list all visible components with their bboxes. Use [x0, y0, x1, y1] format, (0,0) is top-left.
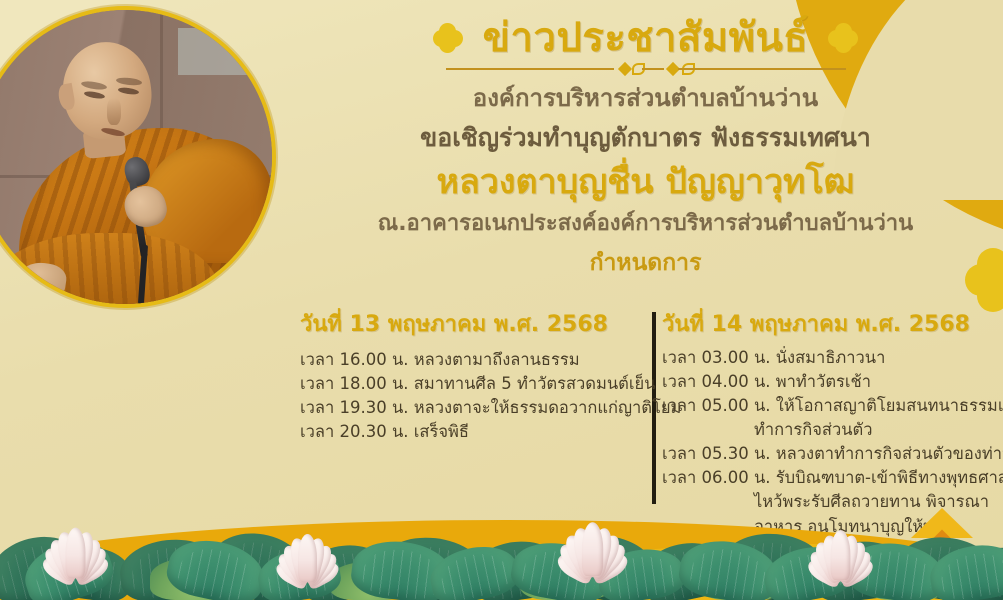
poster-header: ข่าวประชาสัมพันธ์ องค์การบริหารส่วนตำบลบ… — [288, 16, 1003, 281]
schedule-event: เวลา 19.30 น. หลวงตาจะให้ธรรมดอวากแก่ญาต… — [300, 396, 648, 420]
schedule-event: เวลา 04.00 น. พาทำวัตรเช้า — [662, 370, 1003, 394]
ornamental-divider — [446, 62, 846, 76]
wall-light-panel — [178, 28, 272, 75]
venue-text: ณ.อาคารอเนกประสงค์องค์การบริหารส่วนตำบลบ… — [288, 210, 1003, 239]
lotus-petal — [830, 530, 850, 580]
day2-heading: วันที่ 14 พฤษภาคม พ.ศ. 2568 — [662, 306, 1003, 341]
lotus-petal — [65, 528, 85, 578]
title-row: ข่าวประชาสัมพันธ์ — [288, 16, 1003, 61]
monk-name: หลวงตาบุญชื่น ปัญญาวุทโฒ — [288, 162, 1003, 203]
invitation-text: ขอเชิญร่วมทำบุญตักบาตร ฟังธรรมเทศนา — [288, 122, 1003, 155]
page-title: ข่าวประชาสัมพันธ์ — [483, 16, 809, 61]
agenda-label: กำหนดการ — [288, 245, 1003, 281]
quatrefoil-ornament-icon-right — [828, 23, 858, 53]
schedule-event: เวลา 16.00 น. หลวงตามาถึงลานธรรม — [300, 348, 648, 372]
schedule-event: เวลา 18.00 น. สมาทานศีล 5 ทำวัตรสวดมนต์เ… — [300, 372, 648, 396]
schedule-event-continuation: ทำการกิจส่วนตัว — [662, 418, 1003, 442]
poster-canvas: ข่าวประชาสัมพันธ์ องค์การบริหารส่วนตำบลบ… — [0, 0, 1003, 600]
schedule-event: เวลา 05.00 น. ให้โอกาสญาติโยมสนทนาธรรมแล… — [662, 394, 1003, 418]
monk-portrait-photo — [0, 10, 272, 304]
schedule-column-day1: วันที่ 13 พฤษภาคม พ.ศ. 2568 เวลา 16.00 น… — [300, 306, 648, 444]
organization-name: องค์การบริหารส่วนตำบลบ้านว่าน — [288, 82, 1003, 115]
quatrefoil-ornament-icon-edge — [965, 250, 1003, 310]
schedule-event: เวลา 03.00 น. นั่งสมาธิภาวนา — [662, 346, 1003, 370]
monk-photo-ring — [0, 6, 276, 308]
quatrefoil-ornament-icon-left — [433, 23, 463, 53]
lotus-petal — [298, 534, 317, 582]
schedule-event: เวลา 20.30 น. เสร็จพิธี — [300, 420, 648, 444]
lotus-petal — [581, 522, 602, 576]
monk-nose — [107, 98, 120, 124]
day1-heading: วันที่ 13 พฤษภาคม พ.ศ. 2568 — [300, 306, 648, 341]
bottom-lotus-band — [0, 482, 1003, 600]
schedule-event: เวลา 05.30 น. หลวงตาทำการกิจส่วนตัวของท่… — [662, 442, 1003, 466]
